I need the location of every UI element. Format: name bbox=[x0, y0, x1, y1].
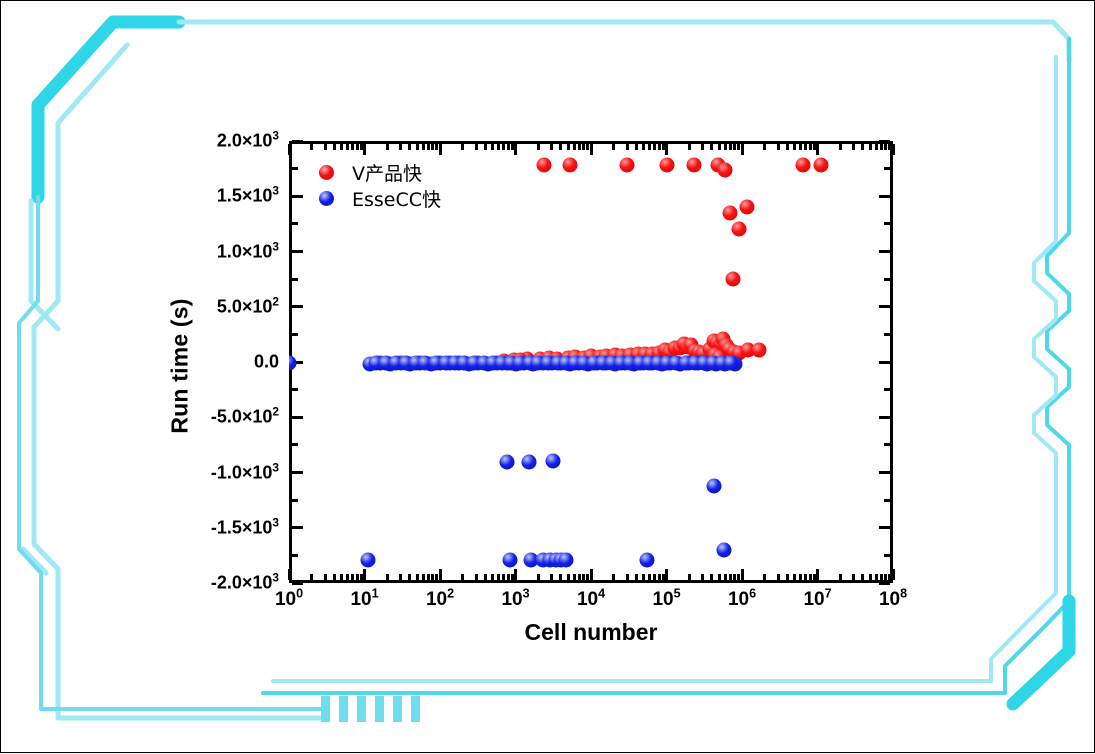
legend-label: V产品快 bbox=[352, 159, 422, 186]
data-point bbox=[521, 455, 536, 470]
chart-legend: V产品快EsseCC快 bbox=[319, 159, 441, 211]
data-point bbox=[639, 552, 654, 567]
x-tick-label: 107 bbox=[803, 589, 831, 611]
data-point bbox=[545, 454, 560, 469]
data-point bbox=[562, 157, 577, 172]
x-tick-label: 108 bbox=[879, 589, 907, 611]
x-axis-label: Cell number bbox=[289, 619, 893, 646]
data-point bbox=[796, 158, 811, 173]
x-tick-label: 105 bbox=[652, 589, 680, 611]
legend-item[interactable]: EsseCC快 bbox=[319, 185, 441, 211]
data-point bbox=[731, 221, 746, 236]
data-point bbox=[537, 157, 552, 172]
data-point bbox=[503, 552, 518, 567]
data-point bbox=[813, 157, 828, 172]
data-point bbox=[739, 200, 754, 215]
data-point bbox=[659, 157, 674, 172]
data-point bbox=[360, 552, 375, 567]
x-tick-label: 104 bbox=[577, 589, 605, 611]
x-tick-label: 103 bbox=[501, 589, 529, 611]
legend-red-marker-icon bbox=[319, 165, 334, 180]
x-tick-label: 101 bbox=[350, 589, 378, 611]
data-point bbox=[726, 271, 741, 286]
legend-blue-marker-icon bbox=[319, 191, 334, 206]
data-point bbox=[558, 552, 573, 567]
data-point bbox=[724, 355, 739, 370]
data-point bbox=[717, 542, 732, 557]
data-point bbox=[752, 343, 767, 358]
x-tick-label: 106 bbox=[728, 589, 756, 611]
data-point bbox=[499, 455, 514, 470]
x-tick-label: 100 bbox=[275, 589, 303, 611]
scatter-chart: Run time (s) 2.0×1031.5×1031.0×1035.0×10… bbox=[1, 1, 1095, 754]
screenshot-canvas: Run time (s) 2.0×1031.5×1031.0×1035.0×10… bbox=[0, 0, 1095, 753]
legend-label: EsseCC快 bbox=[352, 185, 441, 212]
data-point bbox=[718, 162, 733, 177]
x-tick-label: 102 bbox=[426, 589, 454, 611]
data-point bbox=[707, 478, 722, 493]
data-point bbox=[686, 158, 701, 173]
data-point bbox=[723, 205, 738, 220]
data-point bbox=[620, 158, 635, 173]
legend-item[interactable]: V产品快 bbox=[319, 159, 441, 185]
